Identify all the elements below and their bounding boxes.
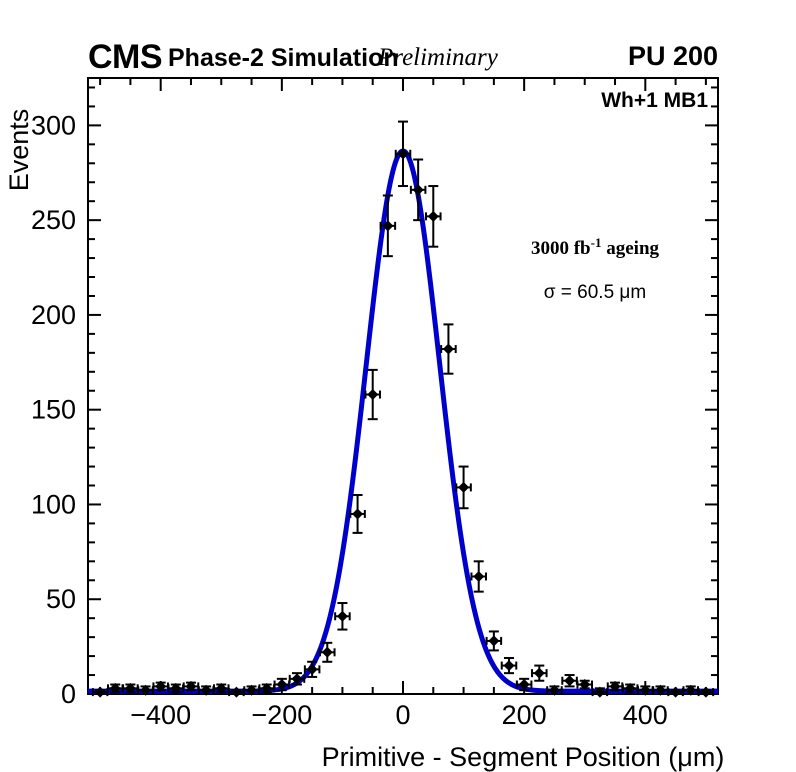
data-point-marker bbox=[352, 508, 363, 519]
data-point-marker bbox=[95, 687, 106, 698]
pileup-label: PU 200 bbox=[628, 41, 718, 72]
data-point-marker bbox=[428, 211, 439, 222]
data-point-marker bbox=[504, 660, 515, 671]
data-points bbox=[95, 148, 712, 697]
data-point-marker bbox=[488, 635, 499, 646]
data-point-marker bbox=[367, 389, 378, 400]
y-tick-label: 0 bbox=[61, 679, 76, 709]
data-point-marker bbox=[231, 687, 242, 698]
axis-tick-labels: −400−2000200400050100150200250300 bbox=[31, 110, 668, 730]
x-tick-label: −400 bbox=[130, 700, 191, 730]
data-point-marker bbox=[337, 611, 348, 622]
data-point-marker bbox=[458, 482, 469, 493]
gaussian-fit-curve bbox=[88, 151, 718, 691]
preliminary-label: Preliminary bbox=[378, 44, 498, 72]
region-label: Wh+1 MB1 bbox=[601, 89, 708, 112]
y-tick-label: 250 bbox=[31, 205, 76, 235]
error-bars bbox=[93, 122, 713, 697]
data-point-marker bbox=[534, 668, 545, 679]
x-tick-label: −200 bbox=[251, 700, 312, 730]
sigma-annotation: σ = 60.5 μm bbox=[544, 282, 646, 303]
y-tick-label: 150 bbox=[31, 395, 76, 425]
chart-svg: −400−2000200400050100150200250300 Primit… bbox=[0, 0, 796, 772]
y-tick-label: 300 bbox=[31, 110, 76, 140]
simulation-label: Phase-2 Simulation bbox=[168, 44, 399, 73]
data-point-marker bbox=[564, 675, 575, 686]
y-axis-title: Events bbox=[4, 109, 34, 192]
cms-logo-text: CMS bbox=[88, 38, 162, 77]
y-tick-label: 100 bbox=[31, 489, 76, 519]
y-tick-label: 50 bbox=[46, 584, 76, 614]
fit-curve-path bbox=[88, 151, 718, 691]
ageing-annotation: 3000 fb-1 ageing bbox=[531, 235, 660, 260]
data-point-marker bbox=[443, 344, 454, 355]
data-point-marker bbox=[670, 687, 681, 698]
data-point-marker bbox=[322, 647, 333, 658]
x-axis-title: Primitive - Segment Position (μm) bbox=[322, 742, 725, 772]
data-point-marker bbox=[700, 687, 711, 698]
data-point-marker bbox=[473, 571, 484, 582]
x-tick-label: 200 bbox=[502, 700, 547, 730]
plot-canvas: CMS Phase-2 Simulation Preliminary PU 20… bbox=[0, 0, 796, 772]
x-tick-label: 0 bbox=[395, 700, 410, 730]
x-tick-label: 400 bbox=[623, 700, 668, 730]
y-tick-label: 200 bbox=[31, 300, 76, 330]
